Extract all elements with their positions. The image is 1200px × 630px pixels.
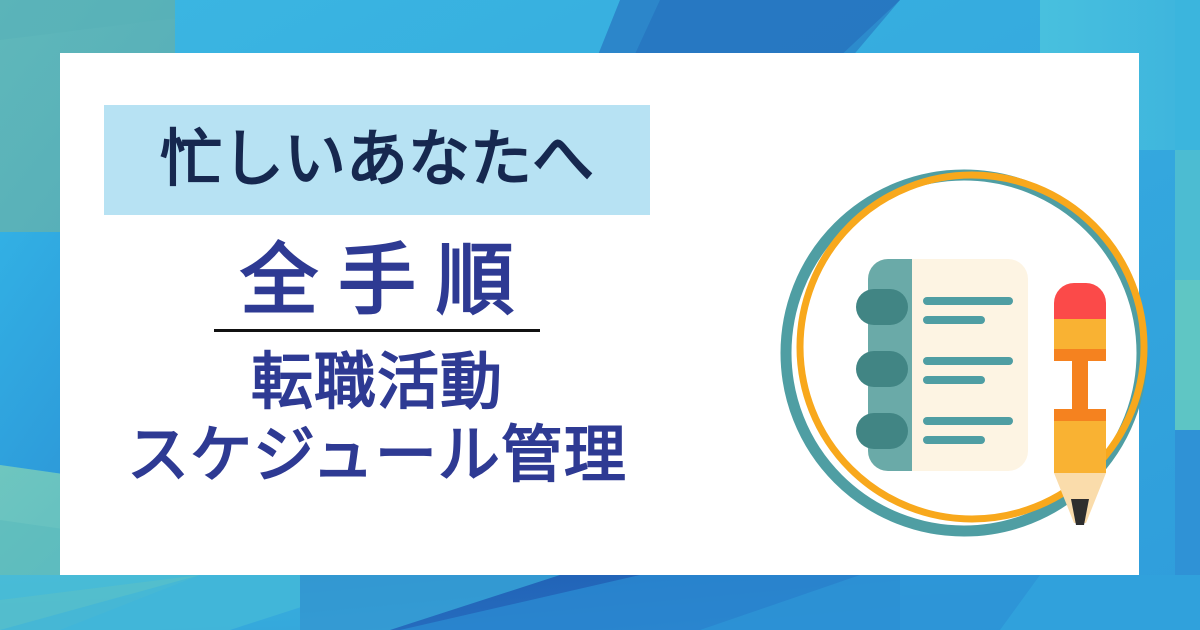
notebook-text-line (923, 417, 1013, 425)
pencil-eraser (1054, 283, 1106, 319)
text-block: 忙しいあなたへ 全手順 転職活動 スケジュール管理 (104, 105, 712, 492)
notebook-ring-tab (856, 289, 908, 325)
notebook-and-pencil-icon (778, 161, 1158, 541)
headline-underline (214, 329, 540, 332)
notebook-text-line (923, 436, 985, 444)
subline-text-2: スケジュール管理 (104, 419, 650, 492)
notebook-ring-tab (856, 351, 908, 387)
subline-block: 転職活動 スケジュール管理 (104, 346, 650, 492)
pencil-ferrule-band (1054, 349, 1106, 361)
notebook-text-line (923, 376, 985, 384)
headline-block: 全手順 (104, 241, 650, 332)
pencil-body-lower (1054, 421, 1106, 473)
headline-text: 全手順 (220, 241, 534, 319)
notebook-text-line (923, 357, 1013, 365)
notebook-text-line (923, 297, 1013, 305)
eyebrow-highlight: 忙しいあなたへ (104, 105, 650, 215)
banner-canvas: 忙しいあなたへ 全手順 転職活動 スケジュール管理 (0, 0, 1200, 630)
pencil-ferrule-band (1054, 409, 1106, 421)
notebook-ring-tab (856, 413, 908, 449)
pencil-body-upper (1054, 319, 1106, 349)
eyebrow-text: 忙しいあなたへ (160, 129, 594, 191)
white-card: 忙しいあなたへ 全手順 転職活動 スケジュール管理 (60, 53, 1139, 575)
notebook-text-line (923, 316, 985, 324)
pencil-ferrule-center (1072, 361, 1088, 409)
subline-text-1: 転職活動 (104, 346, 650, 419)
illustration-svg (778, 161, 1158, 541)
